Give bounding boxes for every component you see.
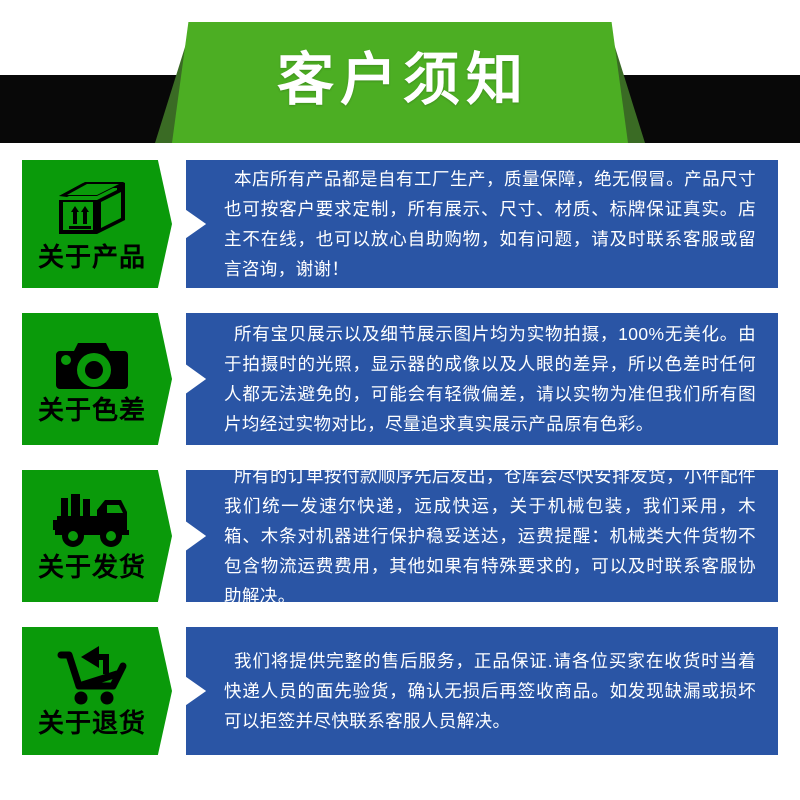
section-label-text: 关于产品	[38, 244, 146, 271]
label-panel-gap	[172, 470, 186, 602]
section-text-panel-color: 所有宝贝展示以及细节展示图片均为实物拍摄，100%无美化。由于拍摄时的光照，显示…	[186, 313, 778, 445]
forklift-truck-icon	[49, 490, 135, 552]
label-panel-gap	[172, 313, 186, 445]
page-title: 客户须知	[271, 52, 529, 113]
section-row: 关于发货 所有的订单按付款顺序先后发出，仓库会尽快安排发货，小件配件我们统一发速…	[0, 470, 800, 602]
section-label-text: 关于发货	[38, 554, 146, 581]
ribbon-banner: 客户须知	[172, 22, 628, 143]
label-panel-gap	[172, 160, 186, 288]
section-row: 关于产品 本店所有产品都是自有工厂生产，质量保障，绝无假冒。产品尺寸也可按客户要…	[0, 160, 800, 288]
sections-list: 关于产品 本店所有产品都是自有工厂生产，质量保障，绝无假冒。产品尺寸也可按客户要…	[0, 160, 800, 780]
section-text-panel-product: 本店所有产品都是自有工厂生产，质量保障，绝无假冒。产品尺寸也可按客户要求定制，所…	[186, 160, 778, 288]
section-label-return[interactable]: 关于退货	[22, 627, 172, 755]
return-cart-icon	[51, 644, 133, 708]
section-label-shipping[interactable]: 关于发货	[22, 470, 172, 602]
section-body-text: 我们将提供完整的售后服务，正品保证.请各位买家在收货时当着快递人员的面先验货，确…	[224, 646, 756, 736]
section-row: 关于色差 所有宝贝展示以及细节展示图片均为实物拍摄，100%无美化。由于拍摄时的…	[0, 313, 800, 445]
section-body-text: 本店所有产品都是自有工厂生产，质量保障，绝无假冒。产品尺寸也可按客户要求定制，所…	[224, 164, 756, 284]
section-label-text: 关于退货	[38, 710, 146, 737]
package-box-icon	[53, 176, 131, 242]
section-label-color[interactable]: 关于色差	[22, 313, 172, 445]
section-label-text: 关于色差	[38, 397, 146, 424]
label-panel-gap	[172, 627, 186, 755]
section-label-product[interactable]: 关于产品	[22, 160, 172, 288]
page-header: 客户须知	[0, 0, 800, 160]
section-text-panel-return: 我们将提供完整的售后服务，正品保证.请各位买家在收货时当着快递人员的面先验货，确…	[186, 627, 778, 755]
camera-icon	[52, 333, 132, 395]
section-body-text: 所有的订单按付款顺序先后发出，仓库会尽快安排发货，小件配件我们统一发速尔快递，远…	[224, 461, 756, 611]
section-body-text: 所有宝贝展示以及细节展示图片均为实物拍摄，100%无美化。由于拍摄时的光照，显示…	[224, 319, 756, 439]
section-row: 关于退货 我们将提供完整的售后服务，正品保证.请各位买家在收货时当着快递人员的面…	[0, 627, 800, 755]
section-text-panel-shipping: 所有的订单按付款顺序先后发出，仓库会尽快安排发货，小件配件我们统一发速尔快递，远…	[186, 470, 778, 602]
